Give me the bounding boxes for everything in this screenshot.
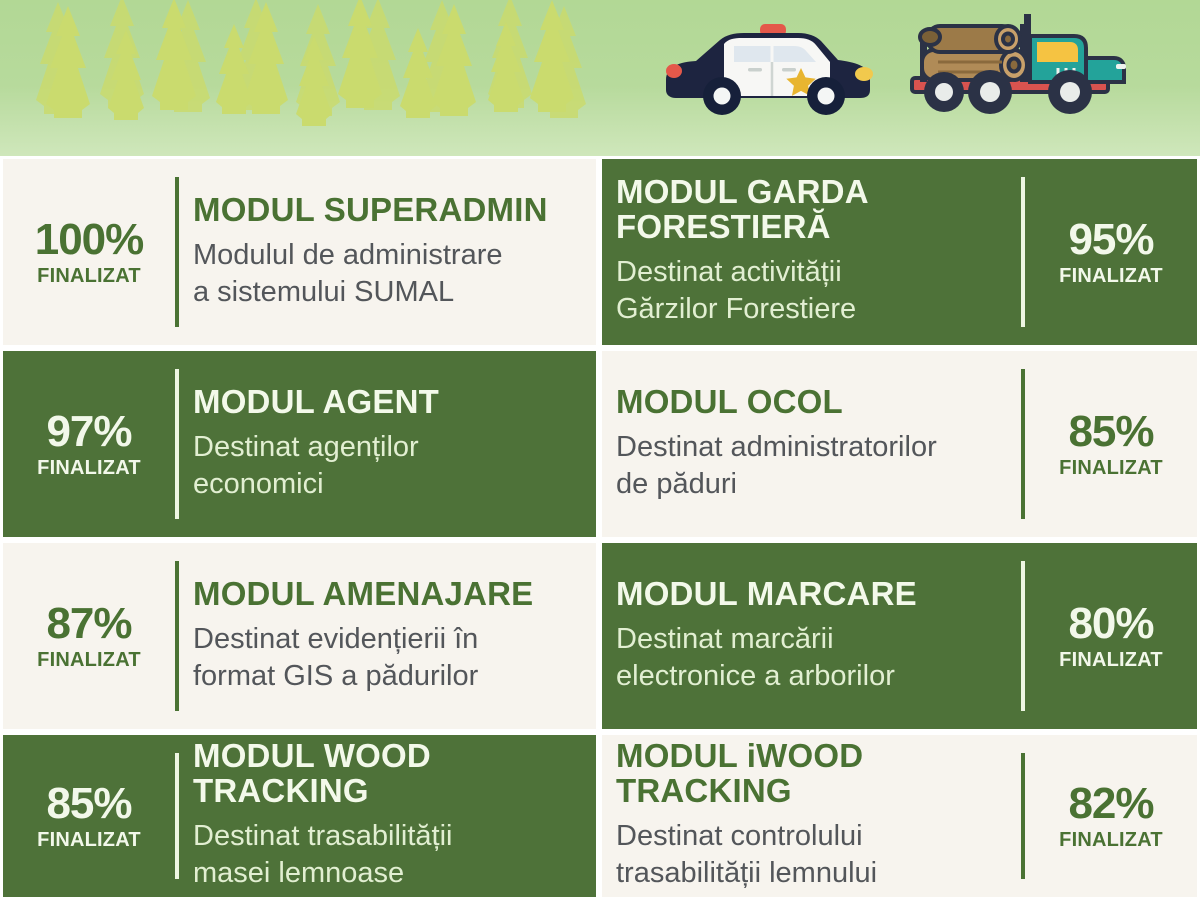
module-card-agent[interactable]: 97% FINALIZAT MODUL AGENT Destinat agenț…	[0, 348, 599, 540]
module-card-superadmin[interactable]: 100% FINALIZAT MODUL SUPERADMIN Modulul …	[0, 156, 599, 348]
module-title: MODUL OCOL	[616, 385, 1011, 420]
module-description: Destinat trasabilității masei lemnoase	[193, 818, 586, 892]
status-label: FINALIZAT	[1031, 458, 1191, 478]
module-title: MODUL GARDA FORESTIERĂ	[616, 175, 1011, 245]
module-title: MODUL AMENAJARE	[193, 577, 586, 612]
module-card-amenajare[interactable]: 87% FINALIZAT MODUL AMENAJARE Destinat e…	[0, 540, 599, 732]
progress-block: 97% FINALIZAT	[3, 410, 175, 478]
infographic-page: 100% FINALIZAT MODUL SUPERADMIN Modulul …	[0, 0, 1200, 900]
module-text: MODUL AGENT Destinat agenților economici	[179, 385, 596, 503]
percent-value: 80%	[1031, 602, 1191, 646]
module-text: MODUL WOOD TRACKING Destinat trasabilită…	[179, 739, 596, 892]
percent-value: 85%	[1031, 410, 1191, 454]
status-label: FINALIZAT	[9, 830, 169, 850]
module-description: Destinat evidențierii în format GIS a pă…	[193, 621, 586, 695]
module-description: Destinat administratorilor de păduri	[616, 429, 1011, 503]
module-description: Destinat agenților economici	[193, 429, 586, 503]
module-title: MODUL SUPERADMIN	[193, 193, 586, 228]
module-card-garda-forestiera[interactable]: MODUL GARDA FORESTIERĂ Destinat activită…	[599, 156, 1200, 348]
module-description: Destinat marcării electronice a arborilo…	[616, 621, 1011, 695]
police-car-icon	[648, 8, 888, 128]
logging-truck-icon	[898, 0, 1138, 132]
progress-block: 85% FINALIZAT	[3, 782, 175, 850]
percent-value: 87%	[9, 602, 169, 646]
module-text: MODUL OCOL Destinat administratorilor de…	[602, 385, 1021, 503]
status-label: FINALIZAT	[1031, 266, 1191, 286]
progress-block: 95% FINALIZAT	[1025, 218, 1197, 286]
module-title: MODUL WOOD TRACKING	[193, 739, 586, 809]
module-card-marcare[interactable]: MODUL MARCARE Destinat marcării electron…	[599, 540, 1200, 732]
percent-value: 95%	[1031, 218, 1191, 262]
progress-block: 80% FINALIZAT	[1025, 602, 1197, 670]
status-label: FINALIZAT	[9, 458, 169, 478]
module-title: MODUL iWOOD TRACKING	[616, 739, 1011, 809]
module-card-wood-tracking[interactable]: 85% FINALIZAT MODUL WOOD TRACKING Destin…	[0, 732, 599, 900]
module-title: MODUL MARCARE	[616, 577, 1011, 612]
percent-value: 97%	[9, 410, 169, 454]
status-label: FINALIZAT	[1031, 830, 1191, 850]
module-description: Modulul de administrare a sistemului SUM…	[193, 237, 586, 311]
percent-value: 85%	[9, 782, 169, 826]
module-description: Destinat activității Gărzilor Forestiere	[616, 254, 1011, 328]
hero-illustration-band	[0, 0, 1200, 156]
progress-block: 100% FINALIZAT	[3, 218, 175, 286]
progress-block: 82% FINALIZAT	[1025, 782, 1197, 850]
module-card-ocol[interactable]: MODUL OCOL Destinat administratorilor de…	[599, 348, 1200, 540]
status-label: FINALIZAT	[9, 266, 169, 286]
module-text: MODUL GARDA FORESTIERĂ Destinat activită…	[602, 175, 1021, 328]
module-text: MODUL iWOOD TRACKING Destinat controlulu…	[602, 739, 1021, 892]
percent-value: 82%	[1031, 782, 1191, 826]
module-text: MODUL AMENAJARE Destinat evidențierii în…	[179, 577, 596, 695]
module-text: MODUL SUPERADMIN Modulul de administrare…	[179, 193, 596, 311]
module-title: MODUL AGENT	[193, 385, 586, 420]
module-card-iwood-tracking[interactable]: MODUL iWOOD TRACKING Destinat controlulu…	[599, 732, 1200, 900]
module-text: MODUL MARCARE Destinat marcării electron…	[602, 577, 1021, 695]
status-label: FINALIZAT	[9, 650, 169, 670]
module-description: Destinat controlului trasabilității lemn…	[616, 818, 1011, 892]
pine-forest-icon	[0, 0, 620, 156]
progress-block: 85% FINALIZAT	[1025, 410, 1197, 478]
module-cards-grid: 100% FINALIZAT MODUL SUPERADMIN Modulul …	[0, 156, 1200, 900]
progress-block: 87% FINALIZAT	[3, 602, 175, 670]
percent-value: 100%	[9, 218, 169, 262]
status-label: FINALIZAT	[1031, 650, 1191, 670]
